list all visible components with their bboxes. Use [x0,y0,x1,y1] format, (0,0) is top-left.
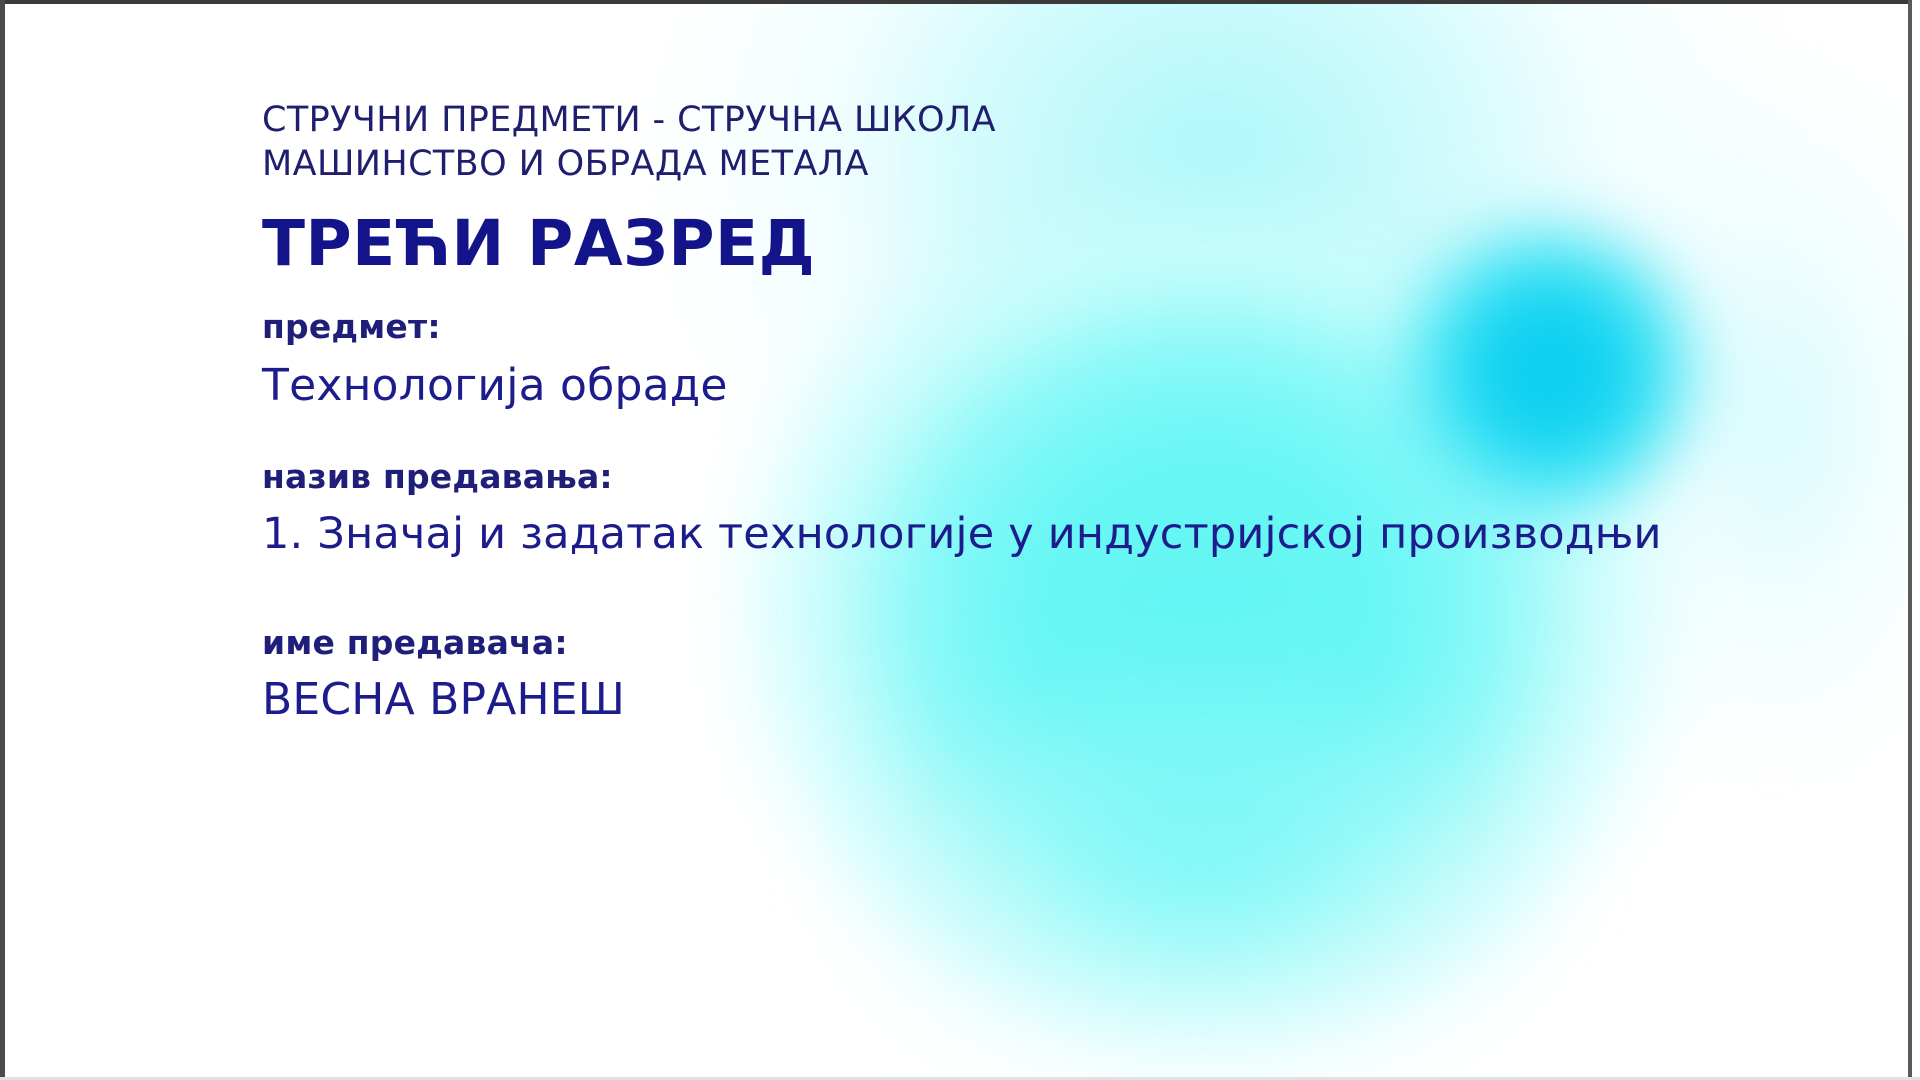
presentation-slide: СТРУЧНИ ПРЕДМЕТИ - СТРУЧНА ШКОЛА МАШИНСТ… [0,0,1920,1080]
frame-edge-left [0,0,5,1080]
school-program-line-2: МАШИНСТВО И ОБРАДА МЕТАЛА [262,142,1882,186]
frame-margin-right [1912,0,1920,1080]
school-program-line-1: СТРУЧНИ ПРЕДМЕТИ - СТРУЧНА ШКОЛА [262,98,1882,142]
subject-label: предмет: [262,306,1882,348]
subject-value: Технологија обраде [262,358,1882,414]
frame-edge-right [1908,0,1912,1080]
lecture-title-label: назив предавања: [262,456,1882,498]
frame-edge-top [0,0,1920,4]
lecture-title-value: 1. Значај и задатак технологије у индуст… [262,506,1882,562]
lecturer-label: име предавача: [262,622,1882,664]
slide-content: СТРУЧНИ ПРЕДМЕТИ - СТРУЧНА ШКОЛА МАШИНСТ… [262,98,1882,728]
grade-title: ТРЕЋИ РАЗРЕД [262,208,1882,280]
lecturer-name: ВЕСНА ВРАНЕШ [262,672,1882,728]
